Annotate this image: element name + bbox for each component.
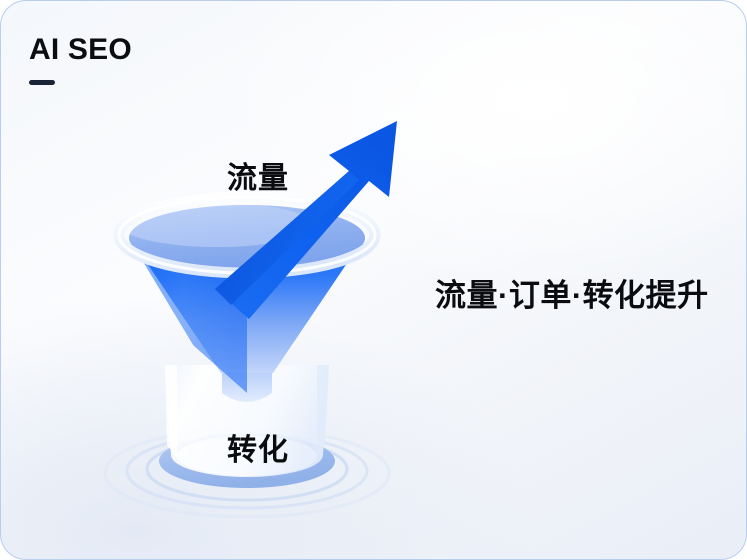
page-title: AI SEO — [29, 35, 329, 65]
title-underline-rule — [29, 80, 55, 85]
funnel-label-traffic: 流量 — [227, 153, 289, 197]
funnel-label-conversion: 转化 — [227, 425, 289, 469]
brand-block: AI SEO — [29, 35, 329, 85]
tagline-text: 流量·订单·转化提升 — [435, 277, 709, 314]
slide-canvas: AI SEO 流量·订单·转化提升 — [0, 0, 747, 560]
